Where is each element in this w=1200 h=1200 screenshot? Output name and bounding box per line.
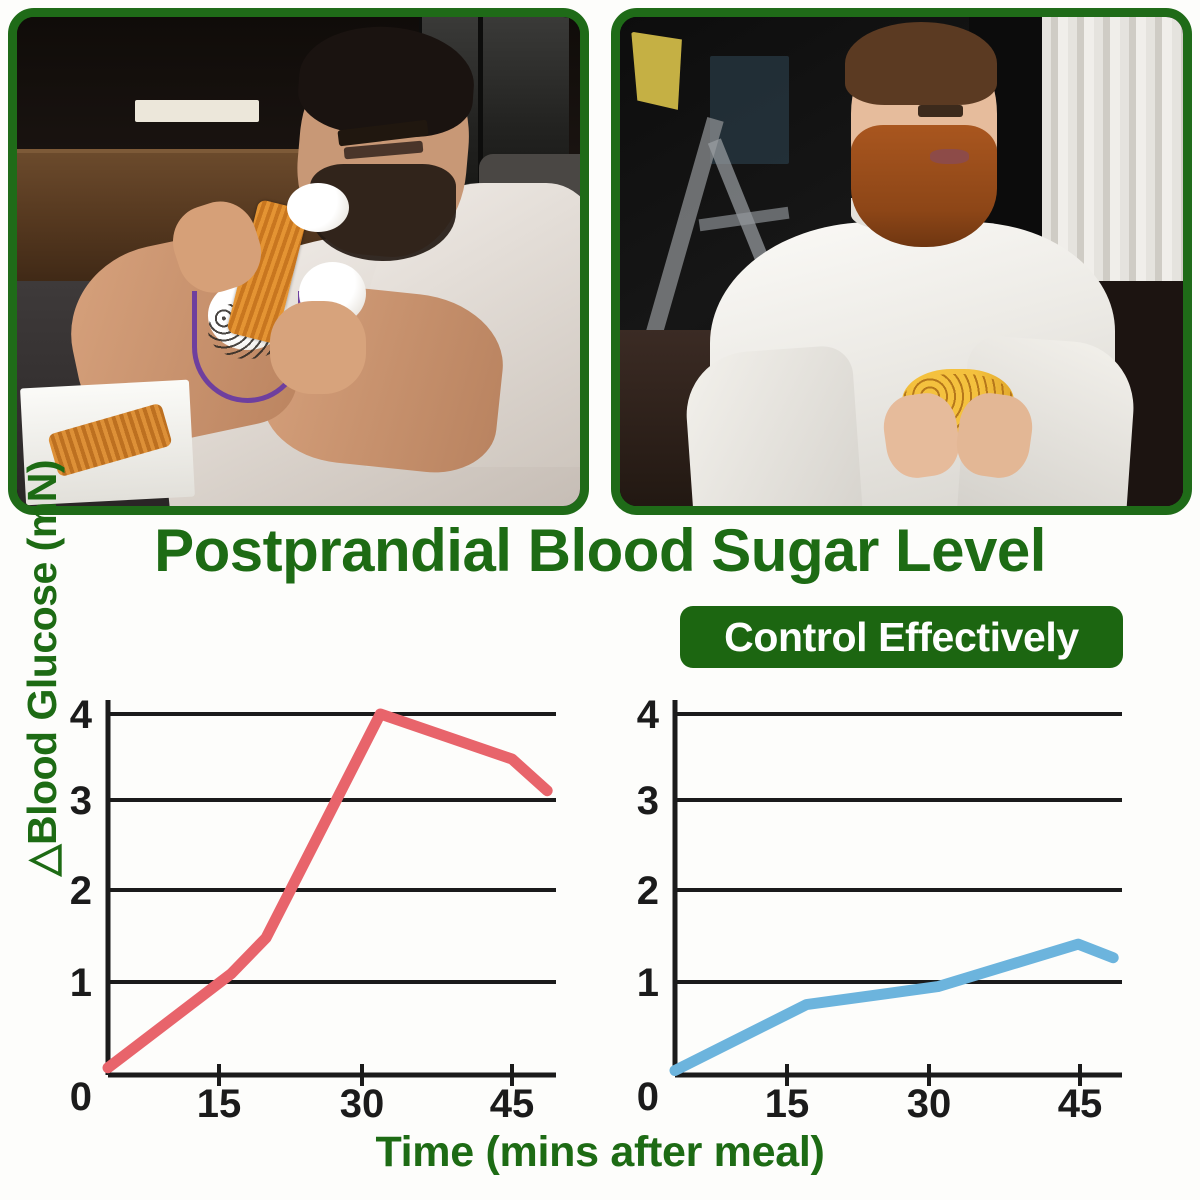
xtick-right-45: 45: [1058, 1082, 1103, 1126]
ytick-left-4: 4: [70, 693, 93, 737]
ytick-right-4: 4: [637, 693, 660, 737]
x-axis-label: Time (mins after meal): [0, 1128, 1200, 1177]
photo-controlled-image: [620, 17, 1183, 506]
page-title: Postprandial Blood Sugar Level: [0, 516, 1200, 585]
photo-uncontrolled: [8, 8, 589, 515]
xtick-right-30: 30: [907, 1082, 952, 1126]
ytick-right-3: 3: [637, 779, 659, 823]
ytick-right-2: 2: [637, 869, 659, 913]
photo-controlled: [611, 8, 1192, 515]
charts-container: 4 3 2 1 0 15 30 45: [0, 650, 1200, 1150]
photo-uncontrolled-image: [17, 17, 580, 506]
xtick-left-45: 45: [490, 1082, 535, 1126]
ytick-left-0: 0: [70, 1075, 92, 1119]
blood-glucose-charts: 4 3 2 1 0 15 30 45: [0, 650, 1200, 1150]
gridlines-right: [675, 714, 1122, 982]
ytick-left-2: 2: [70, 869, 92, 913]
xtick-right-15: 15: [765, 1082, 810, 1126]
photo-row: [0, 0, 1200, 515]
y-axis-label: △Blood Glucose (mN): [12, 418, 72, 918]
ytick-right-1: 1: [637, 961, 659, 1005]
ytick-right-0: 0: [637, 1075, 659, 1119]
chart-uncontrolled: 4 3 2 1 0 15 30 45: [70, 693, 556, 1126]
series-controlled: [675, 944, 1113, 1070]
ytick-left-1: 1: [70, 961, 92, 1005]
chart-controlled: 4 3 2 1 0 15 30 45: [637, 693, 1122, 1126]
xtick-left-15: 15: [197, 1082, 242, 1126]
xtick-left-30: 30: [340, 1082, 385, 1126]
ytick-left-3: 3: [70, 779, 92, 823]
